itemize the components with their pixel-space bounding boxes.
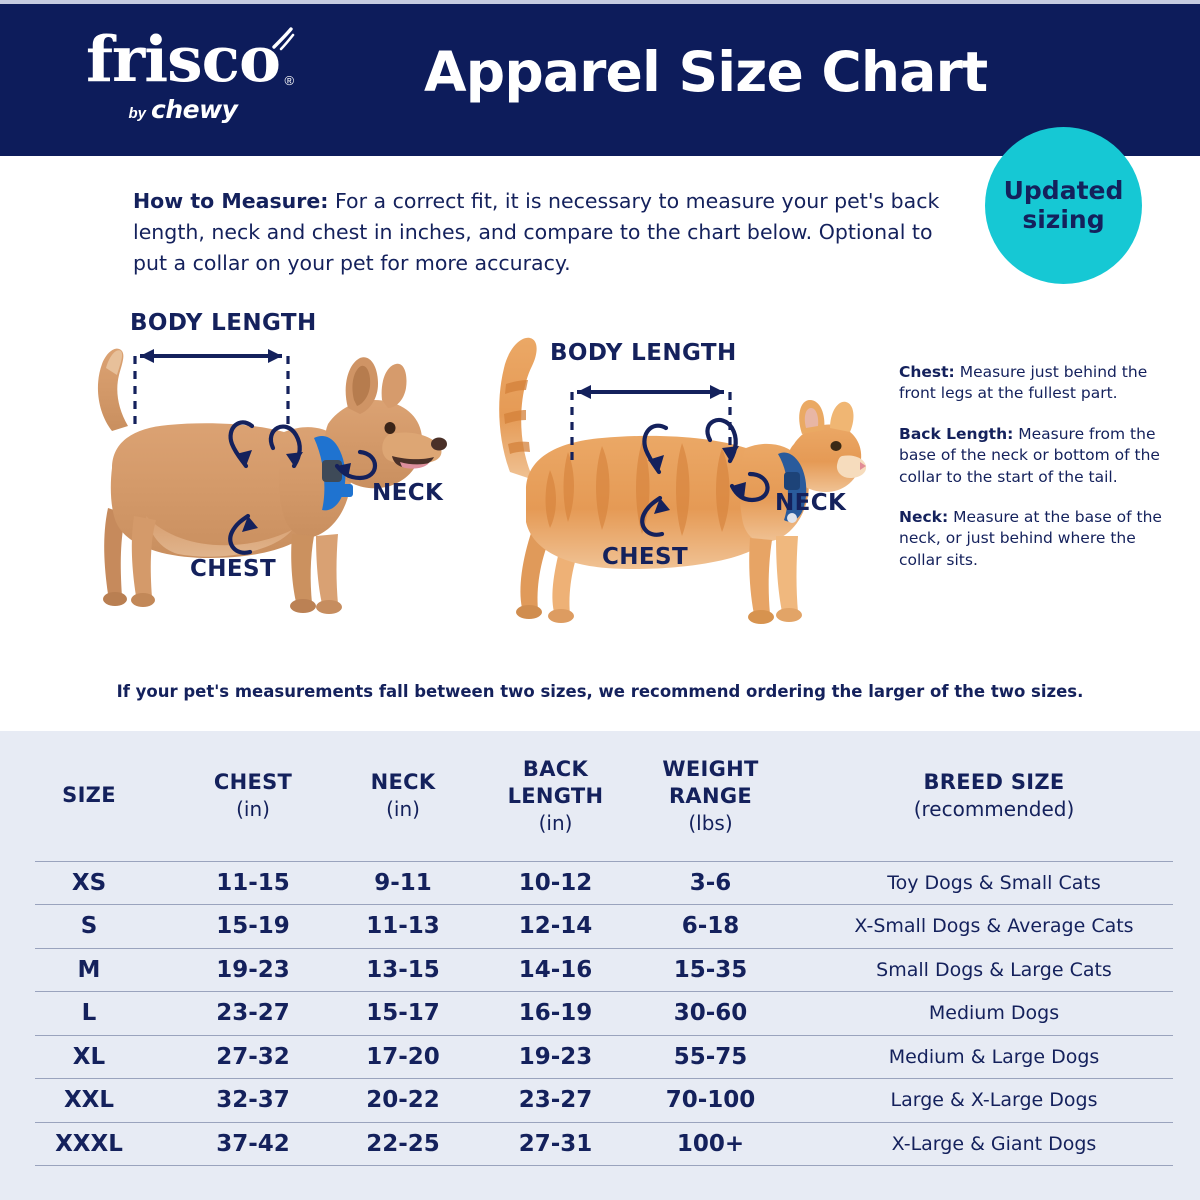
by-chewy-lockup: by chewy: [129, 95, 238, 124]
cell-chest: 15-19: [178, 905, 328, 949]
table-row: XXL32-3720-2223-2770-100Large & X-Large …: [0, 1079, 1200, 1123]
col-header-neck-sub: (in): [328, 796, 478, 822]
cell-chest: 23-27: [178, 992, 328, 1036]
table-row: L23-2715-1716-1930-60Medium Dogs: [0, 992, 1200, 1036]
dog-neck-label: NECK: [372, 480, 443, 506]
cell-weight: 6-18: [633, 905, 788, 949]
chewy-wordmark: chewy: [151, 95, 237, 124]
col-header-back-length: BACK LENGTH (in): [478, 731, 633, 861]
frisco-logo: frisco ® by chewy: [58, 28, 308, 143]
table-body: XS11-159-1110-123-6Toy Dogs & Small Cats…: [0, 861, 1200, 1166]
table-row: S15-1911-1312-146-18X-Small Dogs & Avera…: [0, 905, 1200, 949]
note-neck-label: Neck:: [899, 508, 948, 526]
size-chart-page: frisco ® by chewy Apparel Size Chart Upd…: [0, 0, 1200, 1200]
cell-back: 19-23: [478, 1035, 633, 1079]
cell-chest: 37-42: [178, 1122, 328, 1166]
size-table-panel: SIZE CHEST (in) NECK (in) BACK LENGTH (i…: [0, 731, 1200, 1200]
how-to-measure-paragraph: How to Measure: For a correct fit, it is…: [133, 186, 945, 279]
note-neck: Neck: Measure at the base of the neck, o…: [899, 507, 1171, 571]
col-header-weight-range: WEIGHT RANGE (lbs): [633, 731, 788, 861]
cell-weight: 15-35: [633, 948, 788, 992]
cell-chest: 11-15: [178, 861, 328, 905]
col-header-weight-range-main: WEIGHT RANGE: [633, 756, 788, 810]
table-left-gutter: [0, 731, 35, 1200]
col-header-chest-sub: (in): [178, 796, 328, 822]
cell-neck: 22-25: [328, 1122, 478, 1166]
registered-mark-icon: ®: [284, 74, 293, 87]
by-label: by: [129, 105, 147, 122]
page-title: Apparel Size Chart: [424, 40, 987, 104]
cell-back: 14-16: [478, 948, 633, 992]
table-row: XL27-3217-2019-2355-75Medium & Large Dog…: [0, 1035, 1200, 1079]
table-header: SIZE CHEST (in) NECK (in) BACK LENGTH (i…: [0, 731, 1200, 861]
cell-back: 16-19: [478, 992, 633, 1036]
swoosh-icon: [270, 26, 296, 52]
cell-weight: 70-100: [633, 1079, 788, 1123]
cat-figure-icon: [450, 322, 870, 634]
col-header-chest-main: CHEST: [178, 769, 328, 796]
col-header-weight-range-sub: (lbs): [633, 810, 788, 836]
table-header-row: SIZE CHEST (in) NECK (in) BACK LENGTH (i…: [0, 731, 1200, 861]
cell-chest: 32-37: [178, 1079, 328, 1123]
cell-neck: 13-15: [328, 948, 478, 992]
col-header-back-length-main: BACK LENGTH: [478, 756, 633, 810]
cell-breed: X-Small Dogs & Average Cats: [788, 905, 1200, 949]
table-row: XXXL37-4222-2527-31100+X-Large & Giant D…: [0, 1122, 1200, 1166]
cell-breed: Medium Dogs: [788, 992, 1200, 1036]
badge-line-2: sizing: [1022, 206, 1104, 234]
cell-neck: 11-13: [328, 905, 478, 949]
updated-sizing-badge: Updated sizing: [985, 127, 1142, 284]
note-back-length-label: Back Length:: [899, 425, 1013, 443]
dog-chest-label: CHEST: [190, 556, 276, 582]
table-row: M19-2313-1514-1615-35Small Dogs & Large …: [0, 948, 1200, 992]
note-chest: Chest: Measure just behind the front leg…: [899, 362, 1171, 405]
cell-chest: 19-23: [178, 948, 328, 992]
cell-weight: 3-6: [633, 861, 788, 905]
cell-back: 12-14: [478, 905, 633, 949]
col-header-breed-size-sub: (recommended): [788, 796, 1200, 822]
cell-neck: 9-11: [328, 861, 478, 905]
col-header-breed-size-main: BREED SIZE: [788, 769, 1200, 796]
cell-breed: Small Dogs & Large Cats: [788, 948, 1200, 992]
cell-back: 23-27: [478, 1079, 633, 1123]
cat-chest-label: CHEST: [602, 544, 688, 570]
table-right-gutter: [1173, 731, 1200, 1200]
dog-body-length-label: BODY LENGTH: [130, 310, 317, 336]
cell-neck: 17-20: [328, 1035, 478, 1079]
cat-body-length-label: BODY LENGTH: [550, 340, 737, 366]
cat-neck-label: NECK: [775, 490, 846, 516]
page-header: frisco ® by chewy Apparel Size Chart: [0, 0, 1200, 156]
cell-weight: 30-60: [633, 992, 788, 1036]
between-sizes-note: If your pet's measurements fall between …: [0, 682, 1200, 701]
how-to-measure-label: How to Measure:: [133, 189, 328, 213]
cell-breed: Medium & Large Dogs: [788, 1035, 1200, 1079]
brand-wordmark: frisco ®: [86, 28, 280, 91]
col-header-back-length-sub: (in): [478, 810, 633, 836]
note-chest-label: Chest:: [899, 363, 955, 381]
cell-weight: 55-75: [633, 1035, 788, 1079]
note-back-length: Back Length: Measure from the base of th…: [899, 424, 1171, 488]
cell-neck: 20-22: [328, 1079, 478, 1123]
dog-illustration: BODY LENGTH NECK CHEST: [60, 308, 460, 633]
table-row: XS11-159-1110-123-6Toy Dogs & Small Cats: [0, 861, 1200, 905]
cell-breed: Large & X-Large Dogs: [788, 1079, 1200, 1123]
measurement-definitions: Chest: Measure just behind the front leg…: [899, 362, 1171, 571]
size-table: SIZE CHEST (in) NECK (in) BACK LENGTH (i…: [0, 731, 1200, 1166]
brand-name: frisco: [86, 22, 280, 96]
cell-back: 10-12: [478, 861, 633, 905]
cell-back: 27-31: [478, 1122, 633, 1166]
pet-illustrations: BODY LENGTH NECK CHEST: [0, 300, 880, 640]
col-header-neck: NECK (in): [328, 731, 478, 861]
col-header-breed-size: BREED SIZE (recommended): [788, 731, 1200, 861]
cell-chest: 27-32: [178, 1035, 328, 1079]
cell-neck: 15-17: [328, 992, 478, 1036]
cell-breed: X-Large & Giant Dogs: [788, 1122, 1200, 1166]
dog-figure-icon: [60, 308, 460, 633]
badge-line-1: Updated: [1004, 177, 1124, 205]
cell-weight: 100+: [633, 1122, 788, 1166]
cell-breed: Toy Dogs & Small Cats: [788, 861, 1200, 905]
col-header-neck-main: NECK: [328, 769, 478, 796]
cat-illustration: BODY LENGTH NECK CHEST: [450, 322, 870, 634]
col-header-chest: CHEST (in): [178, 731, 328, 861]
